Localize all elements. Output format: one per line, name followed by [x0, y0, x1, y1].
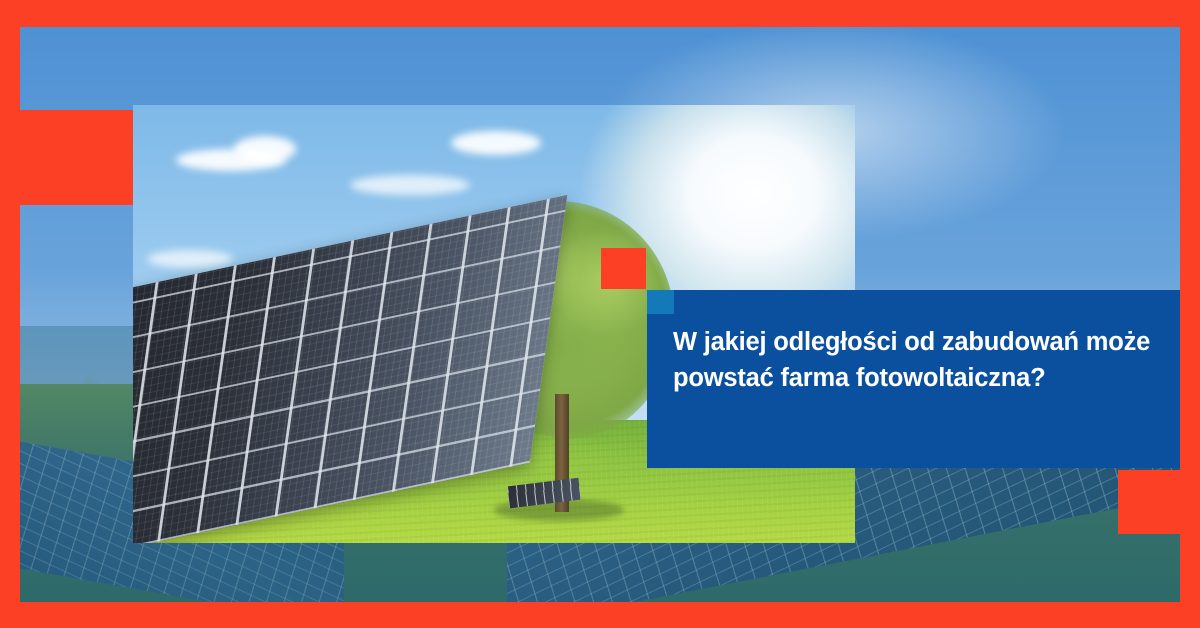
page-title: W jakiej odległości od zabudowań może po… [673, 324, 1163, 396]
cloud-icon [350, 175, 470, 195]
decor-red-square-middle [601, 248, 646, 289]
decor-blue-accent-square [647, 290, 674, 314]
decor-red-square-top-left [20, 110, 133, 205]
caption-box: W jakiej odległości od zabudowań może po… [647, 290, 1183, 468]
banner-image: W jakiej odległości od zabudowań może po… [0, 0, 1200, 628]
cloud-icon [234, 136, 296, 162]
decor-red-square-bottom-right [1118, 470, 1183, 534]
